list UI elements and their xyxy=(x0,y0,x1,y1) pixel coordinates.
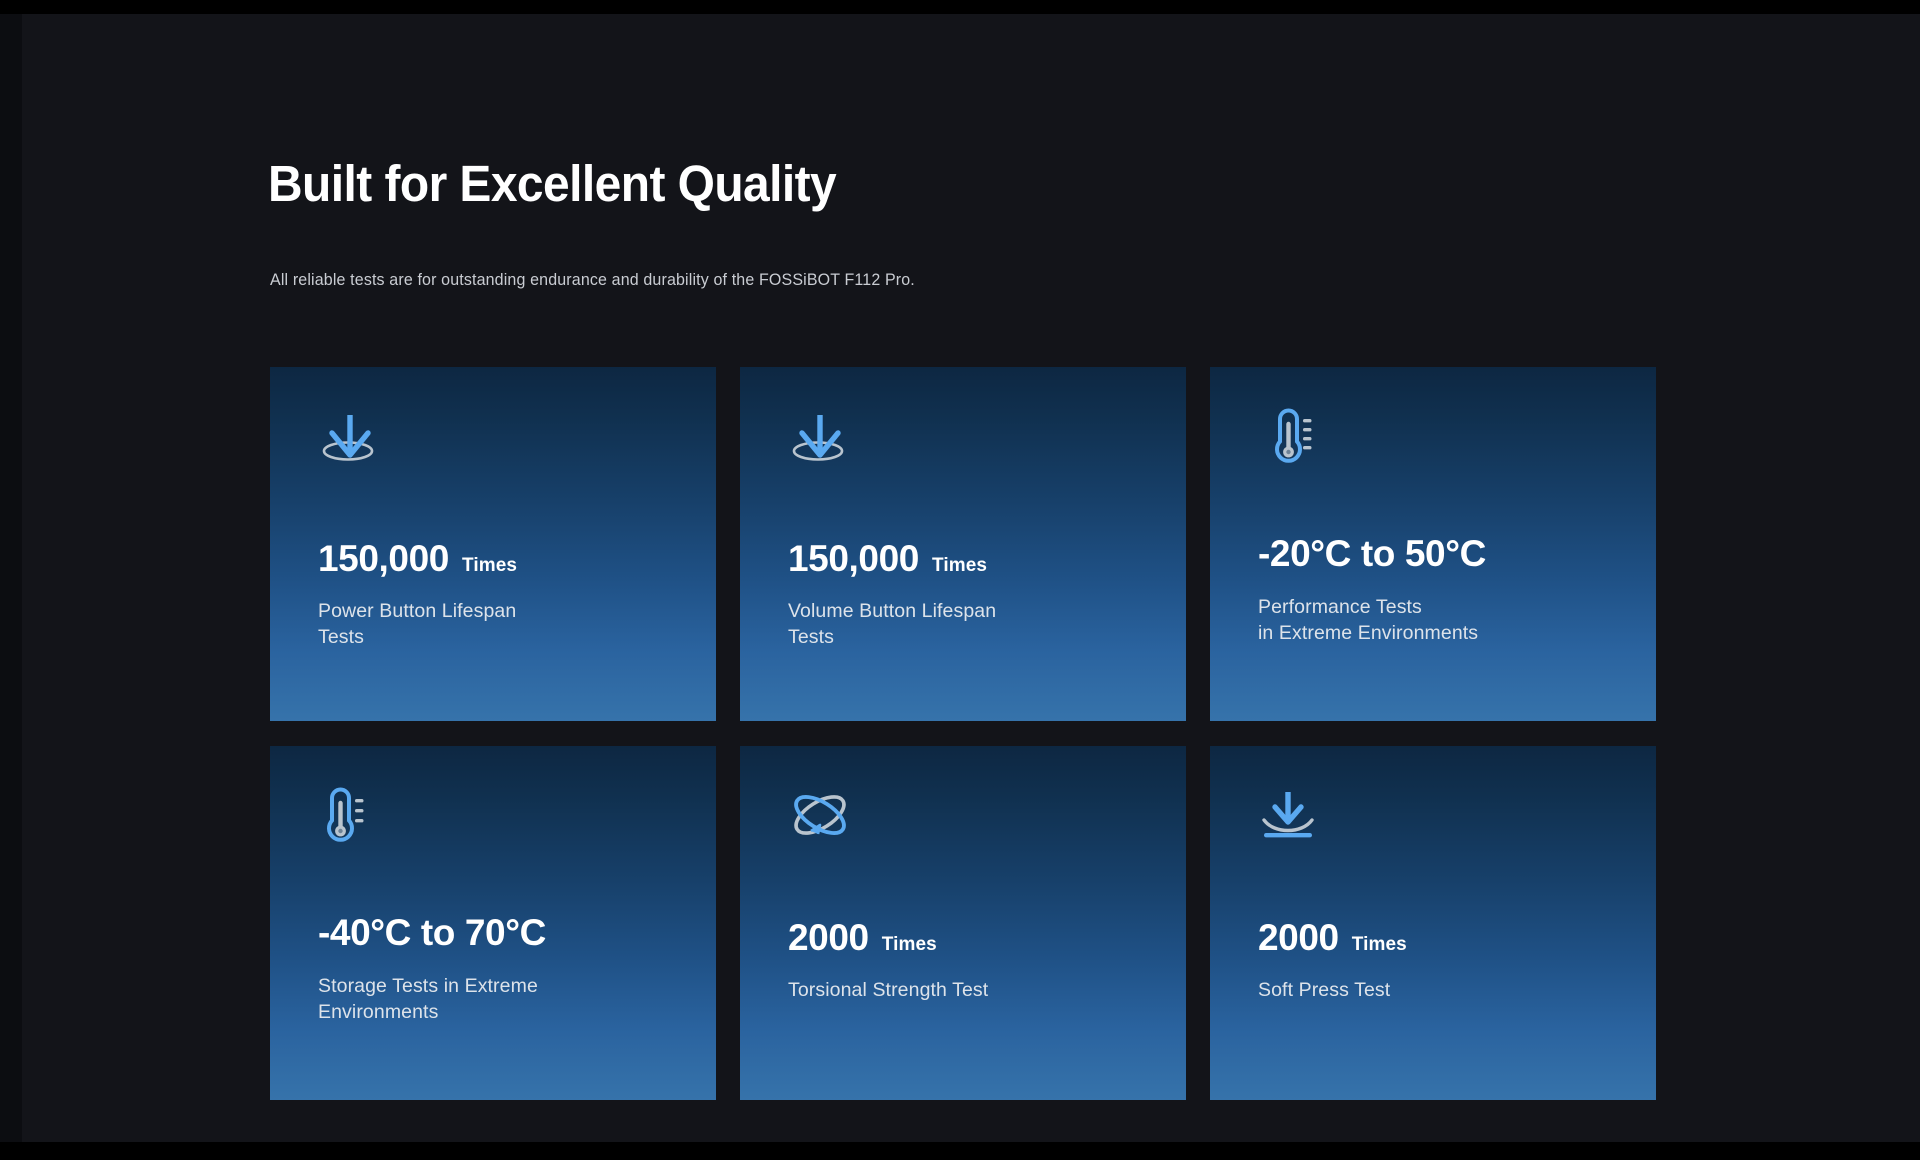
card-unit: Times xyxy=(932,556,987,575)
quality-test-card-grid: 150,000 Times Power Button Lifespan Test… xyxy=(270,367,1654,1100)
card-unit: Times xyxy=(1352,935,1407,954)
card-description: Volume Button Lifespan Tests xyxy=(788,599,1158,650)
left-edge-strip xyxy=(0,14,22,1142)
card-value-row: 2000 Times xyxy=(788,919,937,956)
card-description: Storage Tests in Extreme Environments xyxy=(318,974,688,1025)
quality-card[interactable]: 2000 Times Torsional Strength Test xyxy=(740,746,1186,1100)
quality-card[interactable]: -40°C to 70°C Storage Tests in Extreme E… xyxy=(270,746,716,1100)
thermometer-icon xyxy=(318,784,382,846)
card-value: -20°C to 50°C xyxy=(1258,535,1486,572)
card-description: Soft Press Test xyxy=(1258,978,1628,1004)
top-black-bar xyxy=(0,0,1920,14)
torsion-orbit-icon xyxy=(788,784,852,846)
quality-card[interactable]: 2000 Times Soft Press Test xyxy=(1210,746,1656,1100)
soft-press-icon xyxy=(1258,784,1322,846)
card-value-row: 2000 Times xyxy=(1258,919,1407,956)
card-value-row: 150,000 Times xyxy=(788,540,987,577)
card-description: Performance Tests in Extreme Environment… xyxy=(1258,595,1628,646)
card-value: 2000 xyxy=(1258,919,1339,956)
card-value-row: -40°C to 70°C xyxy=(318,914,546,951)
card-description: Power Button Lifespan Tests xyxy=(318,599,688,650)
card-value: 2000 xyxy=(788,919,869,956)
card-value: -40°C to 70°C xyxy=(318,914,546,951)
bottom-black-bar xyxy=(0,1142,1920,1160)
press-arrow-ellipse-icon xyxy=(318,405,382,467)
page-subtitle: All reliable tests are for outstanding e… xyxy=(270,272,915,289)
quality-card[interactable]: 150,000 Times Volume Button Lifespan Tes… xyxy=(740,367,1186,721)
press-arrow-ellipse-icon xyxy=(788,405,852,467)
card-description: Torsional Strength Test xyxy=(788,978,1158,1004)
quality-card[interactable]: -20°C to 50°C Performance Tests in Extre… xyxy=(1210,367,1656,721)
card-unit: Times xyxy=(882,935,937,954)
page-root: Built for Excellent Quality All reliable… xyxy=(0,0,1920,1160)
content-stage: Built for Excellent Quality All reliable… xyxy=(0,14,1920,1142)
thermometer-icon xyxy=(1258,405,1322,467)
page-title: Built for Excellent Quality xyxy=(268,158,836,209)
card-value-row: -20°C to 50°C xyxy=(1258,535,1486,572)
card-value: 150,000 xyxy=(318,540,449,577)
card-unit: Times xyxy=(462,556,517,575)
card-value: 150,000 xyxy=(788,540,919,577)
card-value-row: 150,000 Times xyxy=(318,540,517,577)
quality-card[interactable]: 150,000 Times Power Button Lifespan Test… xyxy=(270,367,716,721)
